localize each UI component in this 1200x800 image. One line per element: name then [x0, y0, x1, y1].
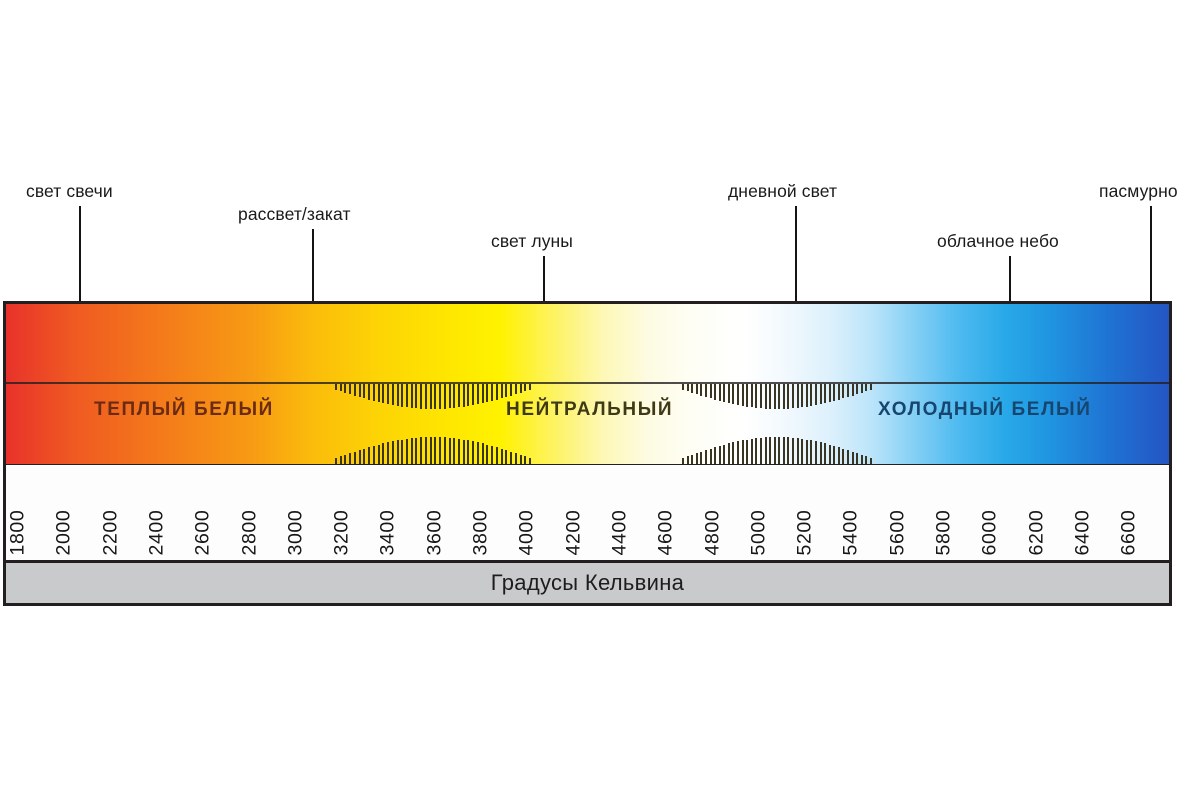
ruler-tick — [751, 384, 753, 407]
ruler-tick — [705, 384, 707, 397]
ruler-tick — [463, 384, 465, 407]
ruler-tick — [359, 384, 361, 397]
ruler-tick — [420, 384, 422, 409]
ruler-tick — [847, 450, 849, 464]
footer-caption-text: Градусы Кельвина — [491, 570, 684, 596]
ruler-tick — [373, 446, 375, 464]
ruler-tick — [842, 384, 844, 398]
ruler-tick — [820, 442, 822, 464]
ruler-tick — [714, 384, 716, 400]
ruler-tick — [806, 440, 808, 464]
ruler-tick — [801, 439, 803, 464]
kelvin-tick-label: 3600 — [425, 509, 445, 555]
kelvin-tick-label: 3200 — [333, 509, 353, 555]
ruler-tick — [387, 442, 389, 464]
ruler-tick — [406, 439, 408, 464]
ruler-tick — [425, 384, 427, 409]
gradient-divider-line — [6, 382, 1169, 384]
ruler-tick — [472, 441, 474, 464]
ruler-tick — [458, 439, 460, 464]
callout-label: пасмурно — [1099, 183, 1178, 201]
ruler-1 — [335, 304, 531, 464]
ruler-tick — [335, 384, 337, 390]
kelvin-tick-label: 3000 — [286, 509, 306, 555]
ruler-tick — [415, 438, 417, 464]
ruler-tick — [682, 384, 684, 390]
ruler-tick — [838, 447, 840, 464]
kelvin-tick-label: 5400 — [842, 509, 862, 555]
ruler-tick — [861, 455, 863, 464]
ruler-tick — [467, 440, 469, 464]
ruler-tick — [714, 447, 716, 464]
ruler-tick — [515, 453, 517, 464]
ruler-tick — [453, 438, 455, 464]
ruler-tick — [687, 384, 689, 391]
ruler-tick — [349, 453, 351, 464]
ruler-tick — [723, 384, 725, 402]
ruler-tick — [397, 384, 399, 406]
ruler-tick — [746, 440, 748, 464]
ruler-tick — [340, 384, 342, 391]
ruler-tick — [373, 384, 375, 401]
ruler-tick — [691, 455, 693, 464]
ruler-tick — [529, 384, 531, 390]
ruler-tick — [382, 443, 384, 464]
ruler-tick — [865, 384, 867, 391]
ruler-tick — [751, 439, 753, 464]
ruler-tick — [368, 447, 370, 464]
ruler-tick — [472, 384, 474, 405]
ruler-tick — [820, 384, 822, 404]
temperature-gradient — [6, 304, 1169, 464]
ruler-tick — [682, 458, 684, 464]
ruler-tick — [486, 384, 488, 402]
ruler-tick — [449, 438, 451, 464]
ruler-tick — [363, 449, 365, 464]
ruler-tick — [801, 384, 803, 407]
ruler-tick — [815, 384, 817, 405]
kelvin-tick-label: 2800 — [240, 509, 260, 555]
ruler-tick — [746, 384, 748, 407]
ruler-tick — [392, 441, 394, 464]
ruler-tick — [453, 384, 455, 408]
ruler-tick — [774, 437, 776, 464]
ruler-tick — [520, 455, 522, 464]
ruler-tick — [810, 384, 812, 406]
ruler-tick — [425, 437, 427, 464]
ruler-tick — [742, 384, 744, 406]
ruler-tick — [732, 442, 734, 464]
ruler-tick — [515, 384, 517, 394]
ruler-tick — [755, 384, 757, 408]
ruler-tick — [755, 438, 757, 464]
ruler-tick — [434, 384, 436, 409]
ruler-tick — [769, 437, 771, 464]
ruler-tick — [501, 384, 503, 398]
ruler-tick — [415, 384, 417, 408]
kelvin-tick-label: 3400 — [379, 509, 399, 555]
kelvin-tick-label: 6000 — [981, 509, 1001, 555]
ruler-tick — [829, 384, 831, 402]
ruler-tick — [449, 384, 451, 408]
kelvin-tick-label: 2000 — [55, 509, 75, 555]
ruler-tick — [806, 384, 808, 407]
ruler-tick — [719, 384, 721, 401]
ruler-tick — [501, 449, 503, 464]
kelvin-tick-label: 1800 — [9, 509, 29, 555]
ruler-tick — [491, 446, 493, 464]
ruler-tick — [760, 438, 762, 464]
kelvin-tick-label: 6200 — [1027, 509, 1047, 555]
ruler-tick — [368, 384, 370, 400]
kelvin-tick-label: 5200 — [796, 509, 816, 555]
ruler-tick — [524, 384, 526, 391]
ruler-tick — [792, 438, 794, 464]
ruler-tick — [778, 437, 780, 464]
kelvin-tick-label: 6600 — [1120, 509, 1140, 555]
ruler-tick — [520, 384, 522, 393]
ruler-tick — [430, 384, 432, 409]
ruler-tick — [700, 452, 702, 464]
ruler-tick — [856, 453, 858, 464]
callout-label: свет луны — [491, 233, 573, 251]
ruler-tick — [710, 384, 712, 398]
ruler-tick — [824, 443, 826, 464]
band-label: ХОЛОДНЫЙ БЕЛЫЙ — [878, 400, 1091, 419]
kelvin-tick-label: 4000 — [518, 509, 538, 555]
ruler-tick — [444, 384, 446, 409]
ruler-tick — [728, 443, 730, 464]
ruler-tick — [737, 441, 739, 464]
ruler-tick — [477, 384, 479, 404]
ruler-tick — [491, 384, 493, 401]
ruler-tick — [482, 384, 484, 403]
band-label: НЕЙТРАЛЬНЫЙ — [506, 400, 673, 419]
ruler-tick — [401, 440, 403, 464]
ruler-tick — [815, 441, 817, 464]
ruler-tick — [411, 438, 413, 464]
ruler-tick — [687, 456, 689, 464]
ruler-tick — [363, 384, 365, 398]
ruler-tick — [861, 384, 863, 393]
ruler-tick — [797, 384, 799, 408]
ruler-tick — [344, 384, 346, 393]
ruler-tick — [496, 447, 498, 464]
ruler-tick — [430, 437, 432, 464]
ruler-tick — [496, 384, 498, 400]
ruler-tick — [510, 452, 512, 464]
callout-label: свет свечи — [26, 183, 113, 201]
ruler-tick — [700, 384, 702, 396]
gradient-bar: ТЕПЛЫЙ БЕЛЫЙНЕЙТРАЛЬНЫЙХОЛОДНЫЙ БЕЛЫЙ — [3, 301, 1172, 467]
ruler-tick — [382, 384, 384, 403]
ruler-tick — [463, 440, 465, 464]
ruler-tick — [486, 445, 488, 464]
ruler-tick — [505, 450, 507, 464]
ruler-tick — [439, 384, 441, 409]
ruler-tick — [760, 384, 762, 408]
ruler-tick — [765, 437, 767, 464]
ruler-2 — [682, 304, 872, 464]
ruler-tick — [728, 384, 730, 403]
ruler-tick — [810, 440, 812, 464]
ruler-tick — [406, 384, 408, 407]
ruler-tick — [732, 384, 734, 404]
ruler-tick — [458, 384, 460, 407]
ruler-tick — [439, 437, 441, 464]
ruler-tick — [401, 384, 403, 407]
ruler-tick — [378, 384, 380, 402]
band-label: ТЕПЛЫЙ БЕЛЫЙ — [94, 400, 274, 419]
callout-label: облачное небо — [937, 233, 1059, 251]
ruler-tick — [737, 384, 739, 405]
ruler-tick — [852, 384, 854, 396]
ruler-tick — [529, 458, 531, 464]
kelvin-tick-label: 3800 — [472, 509, 492, 555]
ruler-tick — [482, 443, 484, 464]
ruler-tick — [783, 437, 785, 464]
ruler-tick — [420, 437, 422, 464]
ruler-tick — [742, 440, 744, 464]
ruler-tick — [769, 384, 771, 409]
ruler-tick — [696, 453, 698, 464]
footer-caption-bar: Градусы Кельвина — [3, 560, 1172, 606]
ruler-tick — [510, 384, 512, 396]
kelvin-tick-label: 5600 — [888, 509, 908, 555]
ruler-tick — [833, 384, 835, 401]
ruler-tick — [354, 384, 356, 396]
ruler-tick — [359, 450, 361, 464]
kelvin-tick-label: 2200 — [101, 509, 121, 555]
kelvin-tick-label: 4800 — [703, 509, 723, 555]
ruler-tick — [778, 384, 780, 409]
ruler-tick — [792, 384, 794, 408]
ruler-tick — [723, 445, 725, 464]
kelvin-tick-label: 2600 — [194, 509, 214, 555]
ruler-tick — [829, 445, 831, 464]
ruler-tick — [765, 384, 767, 409]
ruler-tick — [696, 384, 698, 394]
kelvin-tick-label: 4600 — [657, 509, 677, 555]
ruler-tick — [797, 438, 799, 464]
ruler-tick — [847, 384, 849, 397]
callout-label: дневной свет — [728, 183, 837, 201]
ruler-tick — [852, 452, 854, 464]
ruler-tick — [467, 384, 469, 406]
kelvin-tick-label: 2400 — [147, 509, 167, 555]
ruler-tick — [354, 452, 356, 464]
kelvin-tick-label: 4200 — [564, 509, 584, 555]
kelvin-tick-label: 5000 — [749, 509, 769, 555]
kelvin-tick-label: 6400 — [1073, 509, 1093, 555]
ruler-tick — [824, 384, 826, 403]
ruler-tick — [870, 458, 872, 464]
ruler-tick — [865, 456, 867, 464]
color-temperature-chart: свет свечирассвет/закатсвет луныдневной … — [0, 0, 1200, 800]
ruler-tick — [856, 384, 858, 394]
ruler-tick — [710, 449, 712, 464]
ruler-tick — [477, 442, 479, 464]
ruler-tick — [378, 445, 380, 464]
ruler-tick — [340, 456, 342, 464]
ruler-tick — [870, 384, 872, 390]
ruler-tick — [787, 437, 789, 464]
ruler-tick — [691, 384, 693, 393]
ruler-tick — [387, 384, 389, 404]
ruler-tick — [783, 384, 785, 409]
ruler-tick — [838, 384, 840, 400]
callout-label: рассвет/закат — [238, 206, 351, 224]
ruler-tick — [349, 384, 351, 394]
ruler-tick — [833, 446, 835, 464]
ruler-tick — [774, 384, 776, 409]
kelvin-tick-label: 5800 — [935, 509, 955, 555]
ruler-tick — [434, 437, 436, 464]
ruler-tick — [719, 446, 721, 464]
ruler-tick — [705, 450, 707, 464]
ruler-tick — [444, 437, 446, 464]
kelvin-scale: 1800200022002400260028003000320034003600… — [3, 465, 1172, 563]
kelvin-tick-label: 4400 — [610, 509, 630, 555]
ruler-tick — [524, 456, 526, 464]
ruler-tick — [411, 384, 413, 408]
ruler-tick — [392, 384, 394, 405]
ruler-tick — [505, 384, 507, 397]
ruler-tick — [344, 455, 346, 464]
ruler-tick — [787, 384, 789, 409]
ruler-tick — [397, 440, 399, 464]
ruler-tick — [842, 449, 844, 464]
ruler-tick — [335, 458, 337, 464]
